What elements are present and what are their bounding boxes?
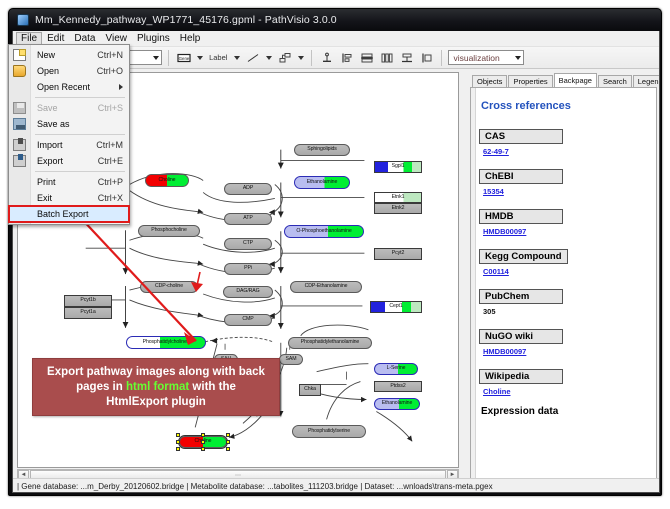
file-menu-label-save-as: Save as bbox=[37, 119, 123, 129]
line-dropdown-arrow[interactable] bbox=[264, 49, 273, 66]
cross-references-title: Cross references bbox=[481, 100, 648, 112]
node-pcyt1b[interactable]: Pcyt1b bbox=[64, 295, 112, 307]
export-icon bbox=[13, 155, 26, 167]
node-sam[interactable]: SAM bbox=[279, 354, 303, 365]
datanode-button[interactable]: Gene bbox=[175, 49, 192, 66]
annotation-line-2-a: pages in bbox=[76, 381, 126, 393]
selection-handle[interactable] bbox=[201, 433, 205, 437]
svg-text:Gene: Gene bbox=[178, 56, 189, 61]
node-etnk1[interactable]: Etnk1 bbox=[374, 192, 422, 203]
interaction-dropdown-arrow[interactable] bbox=[296, 49, 305, 66]
toolbar-separator-2 bbox=[168, 50, 169, 66]
annotation-line-2-b: with the bbox=[189, 381, 236, 393]
open-folder-icon bbox=[13, 65, 26, 77]
selection-handle[interactable] bbox=[176, 440, 180, 444]
node-cmp-label: CMP bbox=[242, 317, 253, 322]
node-dag-label: DAG/RAG bbox=[236, 289, 259, 294]
anchor-button[interactable] bbox=[318, 49, 335, 66]
selection-handle[interactable] bbox=[201, 440, 205, 444]
node-ppi-label: PPi bbox=[244, 266, 252, 271]
node-ptdss2-label: Ptdss2 bbox=[390, 384, 405, 389]
node-adp[interactable]: ADP bbox=[224, 183, 272, 195]
xref-group-wikipedia: Wikipedia Choline bbox=[479, 366, 648, 396]
node-ptdss2[interactable]: Ptdss2 bbox=[374, 381, 422, 392]
label-button[interactable]: Label bbox=[207, 53, 229, 62]
status-bar: | Gene database: ...m_Derby_20120602.bri… bbox=[13, 478, 660, 493]
file-menu-item-save: Save Ctrl+S bbox=[9, 100, 129, 116]
file-menu-dropdown[interactable]: New Ctrl+N Open Ctrl+O Open Recent Save … bbox=[8, 44, 130, 225]
line-button[interactable] bbox=[244, 49, 261, 66]
node-ctp-label: CTP bbox=[243, 241, 253, 246]
import-icon bbox=[13, 139, 26, 151]
node-ethanolamine-2[interactable]: Ethanolamine bbox=[374, 398, 420, 410]
node-pcyt2-label: Pcyt2 bbox=[392, 251, 404, 256]
tab-properties[interactable]: Properties bbox=[508, 75, 552, 87]
toolbar-separator-4 bbox=[441, 50, 442, 66]
node-ppi[interactable]: PPi bbox=[224, 263, 272, 275]
selection-handle[interactable] bbox=[226, 433, 230, 437]
pathvisio-icon bbox=[17, 14, 29, 26]
xref-head-nugo: NuGO wiki bbox=[479, 329, 563, 344]
node-pcyt1a[interactable]: Pcyt1a bbox=[64, 307, 112, 319]
node-atp[interactable]: ATP bbox=[224, 213, 272, 225]
group-button[interactable] bbox=[418, 49, 435, 66]
xref-head-cas: CAS bbox=[479, 129, 563, 144]
save-icon bbox=[13, 102, 26, 114]
node-phosphatidylethanolamine[interactable]: Phosphatidylethanolamine bbox=[288, 337, 372, 349]
menu-help[interactable]: Help bbox=[175, 32, 206, 45]
selection-handle[interactable] bbox=[176, 447, 180, 451]
file-menu-label-open-recent: Open Recent bbox=[37, 82, 119, 92]
node-cdp-choline-label: CDP-choline bbox=[155, 284, 183, 289]
file-menu-accel-new: Ctrl+N bbox=[97, 50, 123, 60]
xref-group-pubchem: PubChem 305 bbox=[479, 286, 648, 316]
node-phosphocholine[interactable]: Phosphocholine bbox=[138, 225, 200, 237]
selection-handle[interactable] bbox=[176, 433, 180, 437]
align-center-button[interactable] bbox=[358, 49, 375, 66]
node-sam-label: SAM bbox=[286, 357, 297, 362]
menu-plugins[interactable]: Plugins bbox=[132, 32, 175, 45]
node-ctp[interactable]: CTP bbox=[224, 238, 272, 250]
xref-link-cas[interactable]: 62-49-7 bbox=[483, 147, 648, 156]
selection-handle[interactable] bbox=[201, 447, 205, 451]
node-etnk1-label: Etnk1 bbox=[392, 195, 405, 200]
node-adp-label: ADP bbox=[243, 186, 253, 191]
panel-left-gutter bbox=[471, 88, 476, 480]
align-columns-button[interactable] bbox=[378, 49, 395, 66]
submenu-arrow-icon bbox=[119, 84, 123, 90]
tab-search[interactable]: Search bbox=[598, 75, 632, 87]
file-menu-label-import: Import bbox=[37, 140, 96, 150]
file-menu-accel-export: Ctrl+E bbox=[98, 156, 123, 166]
file-menu-label-exit: Exit bbox=[37, 193, 98, 203]
node-ethanolamine-label: Ethanolamine bbox=[307, 180, 338, 185]
file-menu-item-new[interactable]: New Ctrl+N bbox=[9, 47, 129, 63]
file-menu-separator-3 bbox=[35, 171, 125, 172]
file-menu-item-open[interactable]: Open Ctrl+O bbox=[9, 63, 129, 79]
node-l-serine[interactable]: L-Serine bbox=[374, 363, 418, 375]
chevron-down-icon-2 bbox=[515, 56, 521, 60]
xref-head-kegg: Kegg Compound bbox=[479, 249, 568, 264]
xref-link-kegg[interactable]: C00114 bbox=[483, 267, 648, 276]
node-cmp[interactable]: CMP bbox=[224, 314, 272, 326]
node-cdp-ethanolamine[interactable]: CDP-Ethanolamine bbox=[290, 281, 362, 293]
interaction-button[interactable] bbox=[276, 49, 293, 66]
node-pcyt1a-label: Pcyt1a bbox=[80, 310, 95, 315]
node-cdp-ethanolamine-label: CDP-Ethanolamine bbox=[305, 284, 348, 289]
node-ethanolamine-2-label: Ethanolamine bbox=[382, 401, 413, 406]
node-etnk2-label: Etnk2 bbox=[392, 206, 405, 211]
node-etnk2[interactable]: Etnk2 bbox=[374, 203, 422, 214]
window-title: Mm_Kennedy_pathway_WP1771_45176.gpml - P… bbox=[35, 14, 337, 26]
file-menu-item-print[interactable]: Print Ctrl+P bbox=[9, 174, 129, 190]
status-bar-text: | Gene database: ...m_Derby_20120602.bri… bbox=[17, 482, 493, 491]
annotation-callout: Export pathway images along with back pa… bbox=[32, 358, 280, 416]
file-menu-label-export: Export bbox=[37, 156, 98, 166]
label-dropdown-arrow[interactable] bbox=[232, 49, 241, 66]
visualization-value: visualization bbox=[453, 53, 499, 63]
node-choline[interactable]: Choline bbox=[145, 174, 189, 187]
side-panel: Objects Properties Backpage Search Legen… bbox=[463, 72, 657, 481]
node-ethanolamine[interactable]: Ethanolamine bbox=[294, 176, 350, 189]
file-menu-accel-import: Ctrl+M bbox=[96, 140, 123, 150]
file-menu-item-open-recent[interactable]: Open Recent bbox=[9, 79, 129, 95]
node-atp-label: ATP bbox=[243, 216, 252, 221]
node-cdp-choline[interactable]: CDP-choline bbox=[140, 281, 198, 293]
side-panel-tabs: Objects Properties Backpage Search Legen… bbox=[463, 72, 657, 87]
file-menu-accel-open: Ctrl+O bbox=[97, 66, 123, 76]
align-left-button[interactable] bbox=[338, 49, 355, 66]
node-o-phosphoethanolamine-label: O-Phosphoethanolamine bbox=[296, 229, 351, 234]
xref-link-wikipedia[interactable]: Choline bbox=[483, 387, 648, 396]
node-sphingolipids[interactable]: Sphingolipids bbox=[294, 144, 350, 156]
stack-button[interactable] bbox=[398, 49, 415, 66]
node-phosphatidylcholines[interactable]: Phosphatidylcholines bbox=[126, 336, 206, 349]
file-menu-item-batch-export[interactable]: Batch Export bbox=[9, 206, 129, 222]
annotation-highlight: html format bbox=[126, 381, 189, 393]
xref-head-wikipedia: Wikipedia bbox=[479, 369, 563, 384]
chevron-down-icon bbox=[153, 56, 159, 60]
annotation-line-1: Export pathway images along with back bbox=[47, 365, 265, 380]
node-dag[interactable]: DAG/RAG bbox=[223, 286, 273, 298]
file-menu-item-import[interactable]: Import Ctrl+M bbox=[9, 137, 129, 153]
xref-link-nugo[interactable]: HMDB00097 bbox=[483, 347, 648, 356]
node-sphingolipids-label: Sphingolipids bbox=[307, 147, 337, 152]
file-menu-item-exit[interactable]: Exit Ctrl+X bbox=[9, 190, 129, 206]
xref-head-chebi: ChEBI bbox=[479, 169, 563, 184]
xref-group-kegg: Kegg Compound C00114 bbox=[479, 246, 648, 276]
backpage-panel: Cross references CAS 62-49-7 ChEBI 15354… bbox=[470, 87, 657, 481]
tab-legend[interactable]: Legend bbox=[633, 75, 660, 87]
xref-value-pubchem: 305 bbox=[483, 307, 648, 316]
tab-objects[interactable]: Objects bbox=[472, 75, 507, 87]
xref-group-nugo: NuGO wiki HMDB00097 bbox=[479, 326, 648, 356]
xref-link-chebi[interactable]: 15354 bbox=[483, 187, 648, 196]
node-cept1[interactable]: Cept1 bbox=[370, 301, 422, 313]
xref-head-hmdb: HMDB bbox=[479, 209, 563, 224]
node-cept1-label: Cept1 bbox=[389, 304, 402, 309]
xref-group-chebi: ChEBI 15354 bbox=[479, 166, 648, 196]
node-phosphatidylserine[interactable]: Phosphatidylserine bbox=[292, 425, 366, 438]
save-as-icon bbox=[13, 118, 26, 130]
node-choline-label: Choline bbox=[159, 178, 176, 183]
selection-handle[interactable] bbox=[226, 440, 230, 444]
file-menu-separator-1 bbox=[35, 97, 125, 98]
file-menu-label-batch-export: Batch Export bbox=[37, 209, 123, 219]
node-chka-label: Chka bbox=[304, 387, 316, 392]
xref-group-hmdb: HMDB HMDB00097 bbox=[479, 206, 648, 236]
node-o-phosphoethanolamine[interactable]: O-Phosphoethanolamine bbox=[284, 225, 364, 238]
file-menu-accel-print: Ctrl+P bbox=[98, 177, 123, 187]
file-menu-item-save-as[interactable]: Save as bbox=[9, 116, 129, 132]
node-phosphatidylethanolamine-label: Phosphatidylethanolamine bbox=[301, 340, 359, 345]
new-file-icon bbox=[13, 49, 26, 61]
xref-head-pubchem: PubChem bbox=[479, 289, 563, 304]
annotation-line-3: HtmlExport plugin bbox=[106, 395, 206, 410]
title-bar: Mm_Kennedy_pathway_WP1771_45176.gpml - P… bbox=[9, 9, 661, 31]
node-pcyt2[interactable]: Pcyt2 bbox=[374, 248, 422, 260]
backpage-content: Cross references CAS 62-49-7 ChEBI 15354… bbox=[471, 88, 656, 421]
file-menu-accel-save: Ctrl+S bbox=[98, 103, 123, 113]
datanode-dropdown-arrow[interactable] bbox=[195, 49, 204, 66]
toolbar-separator-3 bbox=[311, 50, 312, 66]
visualization-combo[interactable]: visualization bbox=[448, 50, 524, 65]
node-sgpl1-label: Sgpl1 bbox=[392, 164, 405, 169]
xref-group-cas: CAS 62-49-7 bbox=[479, 126, 648, 156]
node-pcyt1b-label: Pcyt1b bbox=[80, 298, 95, 303]
node-l-serine-label: L-Serine bbox=[387, 366, 406, 371]
node-chka[interactable]: Chka bbox=[299, 384, 321, 396]
file-menu-separator-2 bbox=[35, 134, 125, 135]
file-menu-item-export[interactable]: Export Ctrl+E bbox=[9, 153, 129, 169]
selection-handle[interactable] bbox=[226, 447, 230, 451]
screenshot-root: Mm_Kennedy_pathway_WP1771_45176.gpml - P… bbox=[0, 0, 670, 509]
node-phosphatidylserine-label: Phosphatidylserine bbox=[308, 429, 350, 434]
file-menu-label-open: Open bbox=[37, 66, 97, 76]
annotation-line-2: pages in html format with the bbox=[76, 380, 236, 395]
file-menu-label-new: New bbox=[37, 50, 97, 60]
node-sgpl1[interactable]: Sgpl1 bbox=[374, 161, 422, 173]
file-menu-accel-exit: Ctrl+X bbox=[98, 193, 123, 203]
node-phosphatidylcholines-label: Phosphatidylcholines bbox=[143, 340, 190, 345]
node-phosphocholine-label: Phosphocholine bbox=[151, 228, 187, 233]
xref-link-hmdb[interactable]: HMDB00097 bbox=[483, 227, 648, 236]
file-menu-label-print: Print bbox=[37, 177, 98, 187]
expression-data-title: Expression data bbox=[481, 406, 648, 417]
file-menu-label-save: Save bbox=[37, 103, 98, 113]
tab-backpage[interactable]: Backpage bbox=[554, 73, 597, 87]
